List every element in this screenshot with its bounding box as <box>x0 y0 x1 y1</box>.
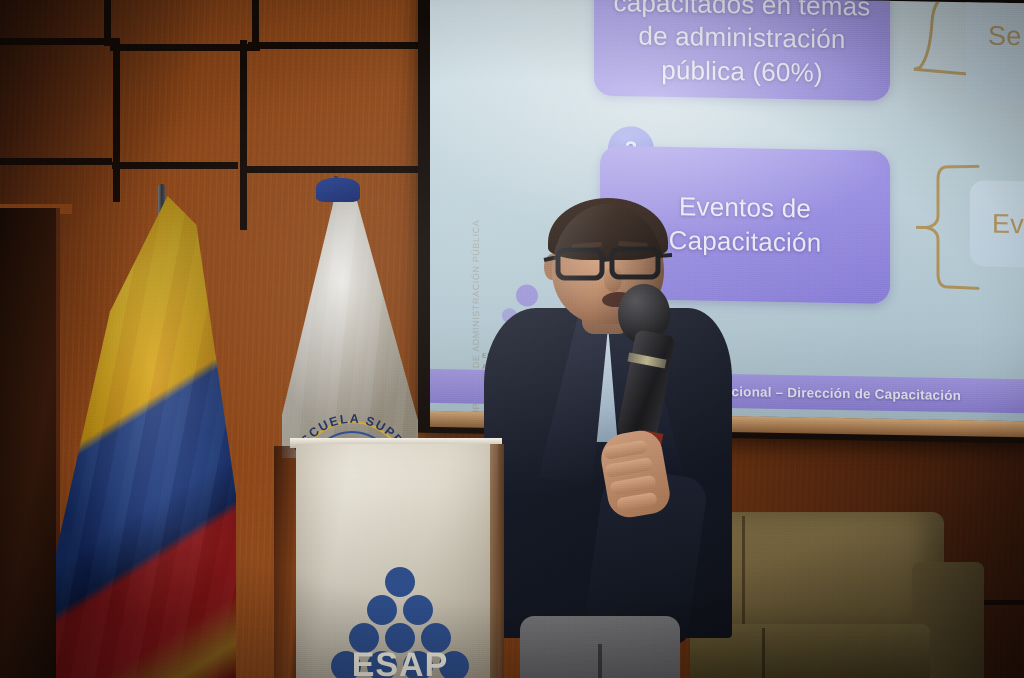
podium-right-edge <box>490 444 504 678</box>
svg-text:ESAP: ESAP <box>352 646 449 678</box>
speaker-finger <box>616 492 658 512</box>
wall-seam-vertical <box>113 44 120 202</box>
slide-node-capacitados: capacitados en temas de administración p… <box>594 0 890 101</box>
wall-seam-horizontal <box>112 162 238 169</box>
speaker-finger <box>603 440 649 460</box>
wall-seam-vertical <box>240 40 247 230</box>
speaker-person <box>476 196 744 678</box>
wall-seam-horizontal <box>248 42 424 49</box>
wall-recess <box>0 208 60 678</box>
esap-pyramid-logo: ESAP <box>330 566 470 678</box>
wall-seam-horizontal <box>0 158 112 165</box>
wall-seam-horizontal <box>110 44 260 51</box>
speaker-finger <box>604 457 654 478</box>
slide-node-blue-eventos: Ev <box>970 180 1024 268</box>
wall-seam-vertical <box>252 0 259 44</box>
wall-seam-horizontal <box>240 166 424 173</box>
photograph-scene: ESCUELA SUPERIOR DE ADMINISTRACIÓN PÚBLI… <box>0 0 1024 678</box>
eyeglasses-icon <box>542 244 674 284</box>
slide-node-blue-servicios: Se <box>966 0 1024 100</box>
sofa-seat-divider <box>762 628 765 678</box>
speaker-trouser-seam <box>598 644 602 678</box>
wall-seam-horizontal <box>0 38 120 45</box>
institutional-flag-finial <box>316 178 360 202</box>
